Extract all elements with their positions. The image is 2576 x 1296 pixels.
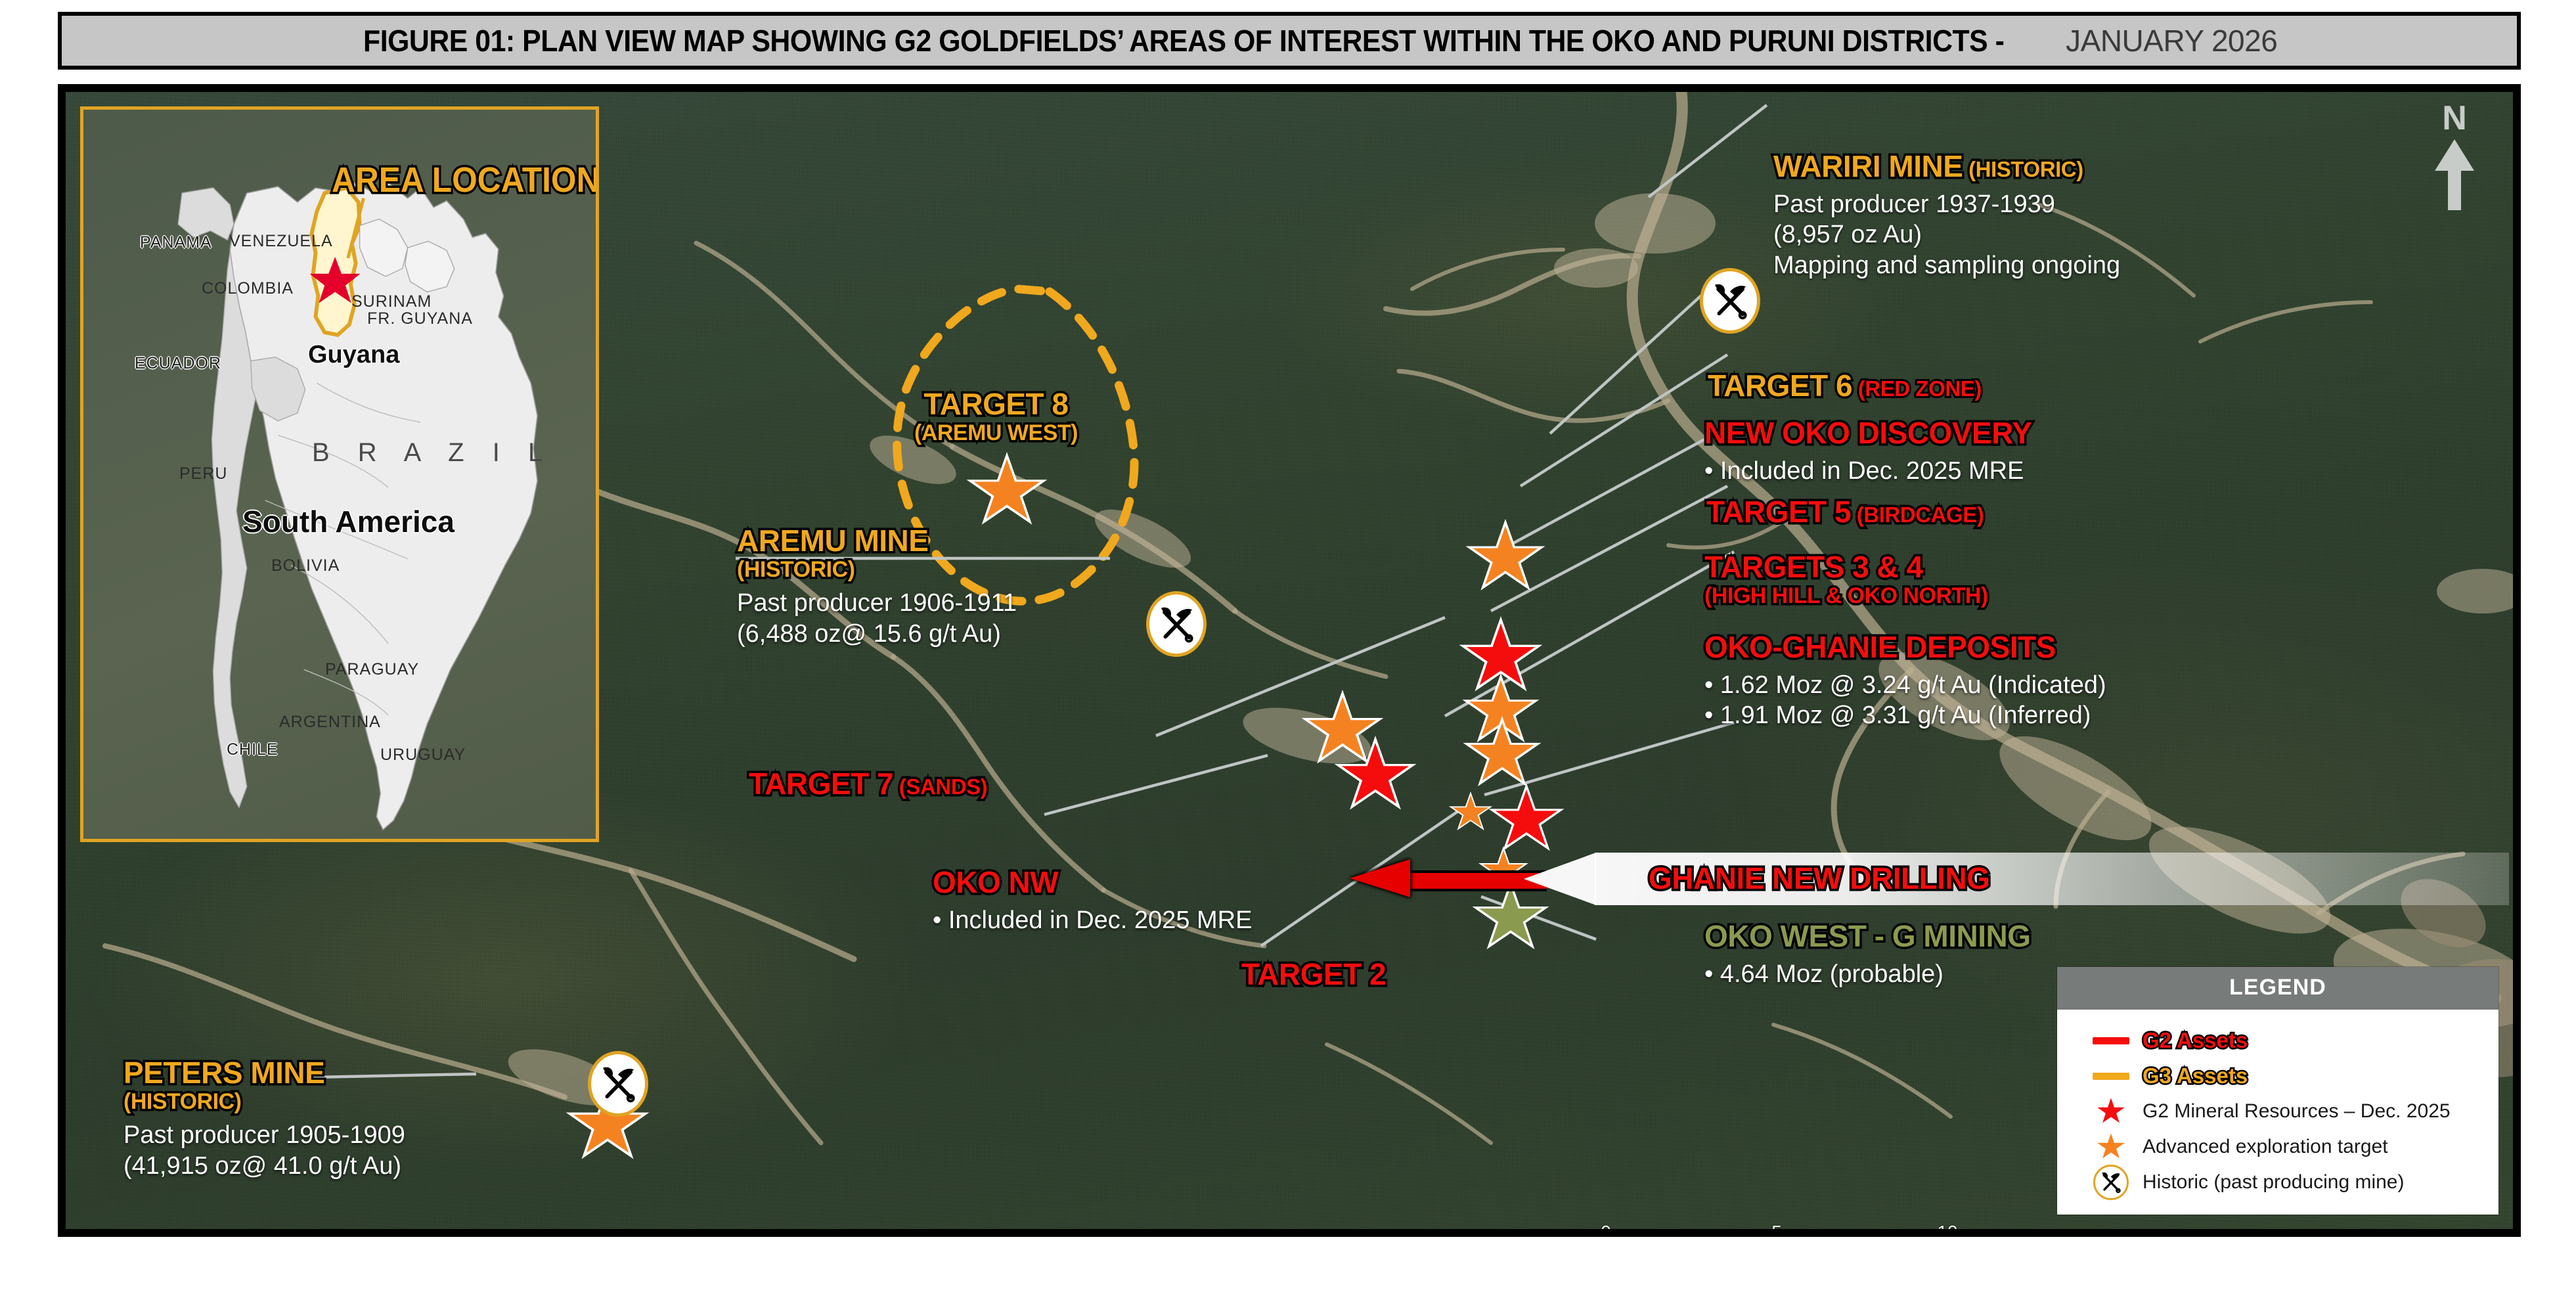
pick-and-shovel-icon [1155, 601, 1197, 647]
target2-heading: TARGET 2 [1241, 959, 1386, 991]
legend-symbol-g2-dash [2079, 1037, 2143, 1044]
figure-title-bar: FIGURE 01: PLAN VIEW MAP SHOWING G2 GOLD… [58, 12, 2521, 70]
okonw-heading: OKO NW [933, 867, 1252, 899]
inset-label-south-america: South America [242, 504, 455, 539]
legend-symbol-mine-icon [2079, 1165, 2143, 1200]
okonw-line-1: • Included in Dec. 2025 MRE [933, 905, 1252, 935]
figure-page: FIGURE 01: PLAN VIEW MAP SHOWING G2 GOLD… [0, 0, 2576, 1296]
wariri-line-3: Mapping and sampling ongoing [1773, 250, 2120, 280]
newoko-heading: NEW OKO DISCOVERY [1704, 418, 2032, 449]
inset-label-guyana: Guyana [308, 341, 399, 369]
wariri-heading: WARIRI MINE [1773, 149, 1963, 183]
legend-symbol-g3-dash [2079, 1073, 2143, 1080]
inset-label-argentina: ARGENTINA [279, 713, 381, 732]
satellite-map[interactable]: AREA LOCATION PANAMA VENEZUELA COLOMBIA … [66, 92, 2513, 1229]
annotation-oko-nw: OKO NW • Included in Dec. 2025 MRE [933, 867, 1252, 935]
target7-sub: (SANDS) [893, 775, 987, 799]
ghanie-heading: GHANIE NEW DRILLING [1649, 860, 1989, 896]
legend-item-g2-assets: G2 Assets [2057, 1023, 2498, 1058]
okowest-heading: OKO WEST - G MINING [1704, 921, 2030, 952]
north-arrow-stem [2448, 171, 2461, 210]
area-location-inset: AREA LOCATION PANAMA VENEZUELA COLOMBIA … [80, 106, 599, 842]
target7-heading: TARGET 7 [749, 767, 893, 801]
legend-label-g3-assets: G3 Assets [2143, 1063, 2248, 1088]
legend-label-g2-mineral-resources: G2 Mineral Resources – Dec. 2025 [2143, 1100, 2451, 1123]
annotation-target-8: TARGET 8 (AREMU WEST) [914, 389, 1078, 445]
inset-label-colombia: COLOMBIA [202, 279, 294, 298]
ghanie-band-tip [1524, 853, 1596, 905]
inset-label-ecuador: ECUADOR [135, 354, 221, 373]
legend-label-advanced-exploration-target: Advanced exploration target [2143, 1136, 2388, 1158]
aremu-line-2: (6,488 oz@ 15.6 g/t Au) [737, 619, 1017, 649]
newoko-line-1: • Included in Dec. 2025 MRE [1704, 456, 2032, 486]
annotation-new-oko-discovery: NEW OKO DISCOVERY • Included in Dec. 202… [1704, 418, 2032, 486]
pick-and-shovel-icon [2099, 1170, 2123, 1194]
okowest-line-1: • 4.64 Moz (probable) [1704, 959, 2030, 989]
legend-item-g3-assets: G3 Assets [2057, 1058, 2498, 1094]
target6-sub: (RED ZONE) [1852, 377, 1982, 401]
wariri-sub: (HISTORIC) [1963, 158, 2083, 182]
scale-tick-5: 5 [1771, 1222, 1782, 1229]
scale-bar-ticks: 0 5 10 [1606, 1222, 1947, 1229]
pick-and-shovel-icon [597, 1061, 639, 1107]
annotation-target-2: TARGET 2 [1241, 959, 1386, 991]
scale-bar: 0 5 10 Kilometres [1606, 1222, 1947, 1229]
pick-and-shovel-icon [1709, 278, 1751, 324]
wariri-line-2: (8,957 oz Au) [1773, 219, 2120, 250]
mine-icon-wariri[interactable] [1700, 268, 1760, 334]
target5-heading: TARGET 5 [1706, 495, 1851, 529]
peters-heading: PETERS MINE [123, 1058, 405, 1089]
inset-label-venezuela: VENEZUELA [229, 232, 333, 251]
aremu-line-1: Past producer 1906-1911 [737, 588, 1017, 618]
okoghanie-heading: OKO-GHANIE DEPOSITS [1704, 632, 2106, 663]
legend-rows: G2 Assets G3 Assets G2 Mineral Resources… [2057, 1010, 2498, 1215]
inset-label-surinam: SURINAM [351, 292, 432, 311]
aremu-sub: (HISTORIC) [737, 558, 1017, 581]
annotation-ghanie-new-drilling: GHANIE NEW DRILLING [1524, 853, 2509, 905]
north-arrow: N [2425, 101, 2484, 219]
map-frame: AREA LOCATION PANAMA VENEZUELA COLOMBIA … [58, 84, 2521, 1237]
okoghanie-line-1: • 1.62 Moz @ 3.24 g/t Au (Indicated) [1704, 670, 2106, 700]
inset-label-peru: PERU [179, 464, 227, 483]
peters-line-1: Past producer 1905-1909 [123, 1120, 405, 1150]
mine-icon-peters[interactable] [588, 1051, 648, 1117]
targets34-sub: (HIGH HILL & OKO NORTH) [1704, 585, 1988, 608]
annotation-wariri-mine: WARIRI MINE (HISTORIC) Past producer 193… [1773, 151, 2120, 280]
legend-label-historic-mine: Historic (past producing mine) [2143, 1171, 2404, 1194]
ghanie-arrow-head [1350, 859, 1410, 897]
annotation-target-7: TARGET 7 (SANDS) [749, 769, 987, 800]
inset-label-brazil: B R A Z I L [312, 438, 553, 468]
inset-label-paraguay: PARAGUAY [325, 660, 419, 679]
annotation-aremu-mine: AREMU MINE (HISTORIC) Past producer 1906… [737, 525, 1017, 649]
legend-symbol-red-star [2079, 1095, 2143, 1128]
target5-sub: (BIRDCAGE) [1851, 503, 1984, 527]
peters-line-2: (41,915 oz@ 41.0 g/t Au) [123, 1151, 405, 1181]
scale-tick-10: 10 [1937, 1222, 1957, 1229]
figure-title-main: FIGURE 01: PLAN VIEW MAP SHOWING G2 GOLD… [363, 23, 2004, 58]
inset-label-uruguay: URUGUAY [380, 746, 466, 765]
peters-sub: (HISTORIC) [123, 1090, 405, 1113]
legend-item-advanced-exploration-target: Advanced exploration target [2057, 1129, 2498, 1165]
legend-symbol-orange-star [2079, 1130, 2143, 1163]
scale-tick-0: 0 [1601, 1222, 1611, 1229]
inset-label-panama: PANAMA [140, 233, 212, 252]
north-arrow-label: N [2442, 101, 2467, 135]
annotation-oko-west-g-mining: OKO WEST - G MINING • 4.64 Moz (probable… [1704, 921, 2030, 989]
legend-panel: LEGEND G2 Assets G3 Assets [2057, 967, 2498, 1215]
legend-item-g2-mineral-resources: G2 Mineral Resources – Dec. 2025 [2057, 1094, 2498, 1129]
annotation-targets-3-4: TARGETS 3 & 4 (HIGH HILL & OKO NORTH) [1704, 552, 1988, 608]
inset-label-chile: CHILE [227, 740, 278, 759]
area-location-heading: AREA LOCATION [332, 160, 599, 200]
target6-heading: TARGET 6 [1708, 369, 1852, 403]
ghanie-arrow [1350, 859, 1547, 897]
annotation-oko-ghanie-deposits: OKO-GHANIE DEPOSITS • 1.62 Moz @ 3.24 g/… [1704, 632, 2106, 731]
target8-sub: (AREMU WEST) [914, 422, 1078, 445]
annotation-target-5: TARGET 5 (BIRDCAGE) [1706, 497, 1984, 528]
figure-title-date: JANUARY 2026 [2066, 23, 2277, 58]
targets34-heading: TARGETS 3 & 4 [1704, 552, 1988, 583]
target8-heading: TARGET 8 [914, 389, 1078, 420]
legend-heading: LEGEND [2057, 967, 2498, 1010]
wariri-line-1: Past producer 1937-1939 [1773, 189, 2120, 219]
mine-icon-aremu[interactable] [1146, 591, 1207, 657]
legend-label-g2-assets: G2 Assets [2143, 1028, 2248, 1053]
north-arrow-head [2435, 139, 2474, 171]
inset-label-bolivia: BOLIVIA [271, 556, 340, 575]
okoghanie-line-2: • 1.91 Moz @ 3.31 g/t Au (Inferred) [1704, 700, 2106, 730]
annotation-peters-mine: PETERS MINE (HISTORIC) Past producer 190… [123, 1058, 405, 1181]
aremu-heading: AREMU MINE [737, 525, 1017, 557]
annotation-target-6: TARGET 6 (RED ZONE) [1708, 370, 1982, 402]
legend-item-historic-mine: Historic (past producing mine) [2057, 1165, 2498, 1200]
inset-label-fr-guyana: FR. GUYANA [367, 309, 473, 328]
